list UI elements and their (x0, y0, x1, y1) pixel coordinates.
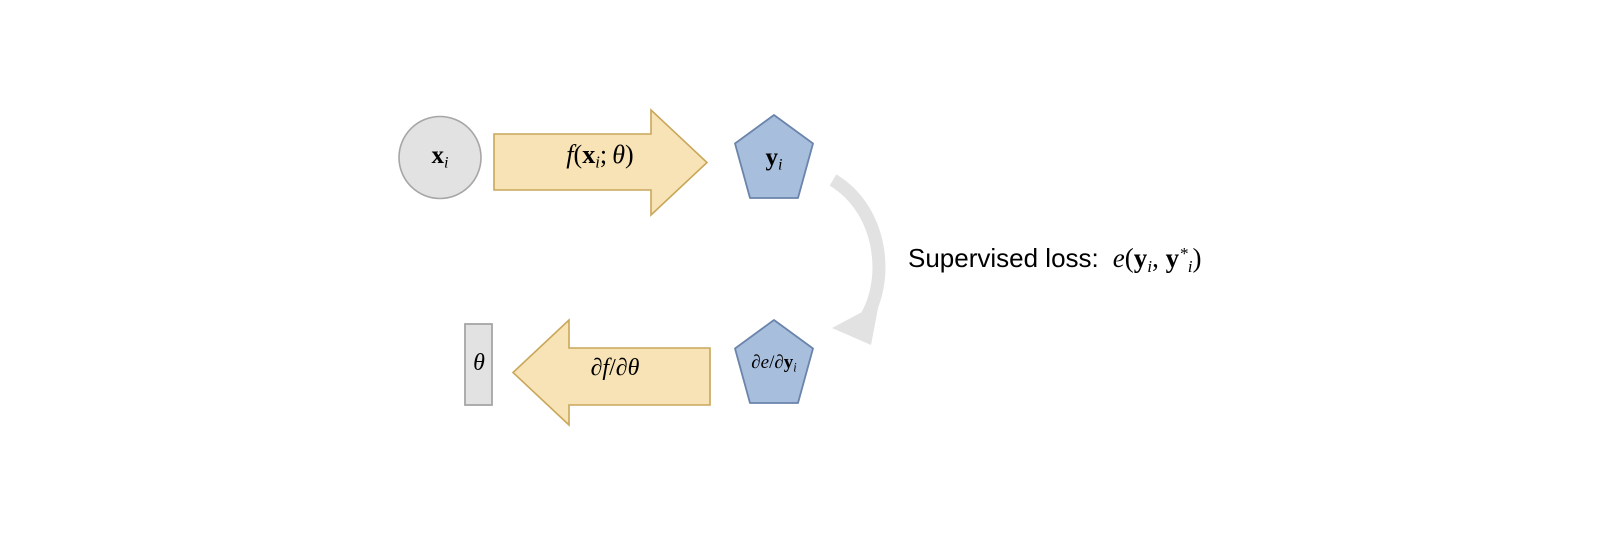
loss-connector-arrow (832, 180, 879, 345)
forward-arrow-shape[interactable] (494, 110, 707, 215)
supervised-loss-expression: e(yi, y*i) (1113, 243, 1202, 273)
gradient-node-pentagon[interactable] (735, 320, 813, 403)
supervised-loss-annotation: Supervised loss:e(yi, y*i) (908, 243, 1202, 277)
output-node-pentagon[interactable] (735, 115, 813, 198)
diagram-canvas (0, 0, 1600, 540)
input-node-circle[interactable] (399, 117, 481, 199)
supervised-loss-text: Supervised loss: (908, 243, 1099, 273)
backward-arrow-shape[interactable] (513, 320, 710, 425)
parameter-node-rect[interactable] (465, 324, 492, 405)
